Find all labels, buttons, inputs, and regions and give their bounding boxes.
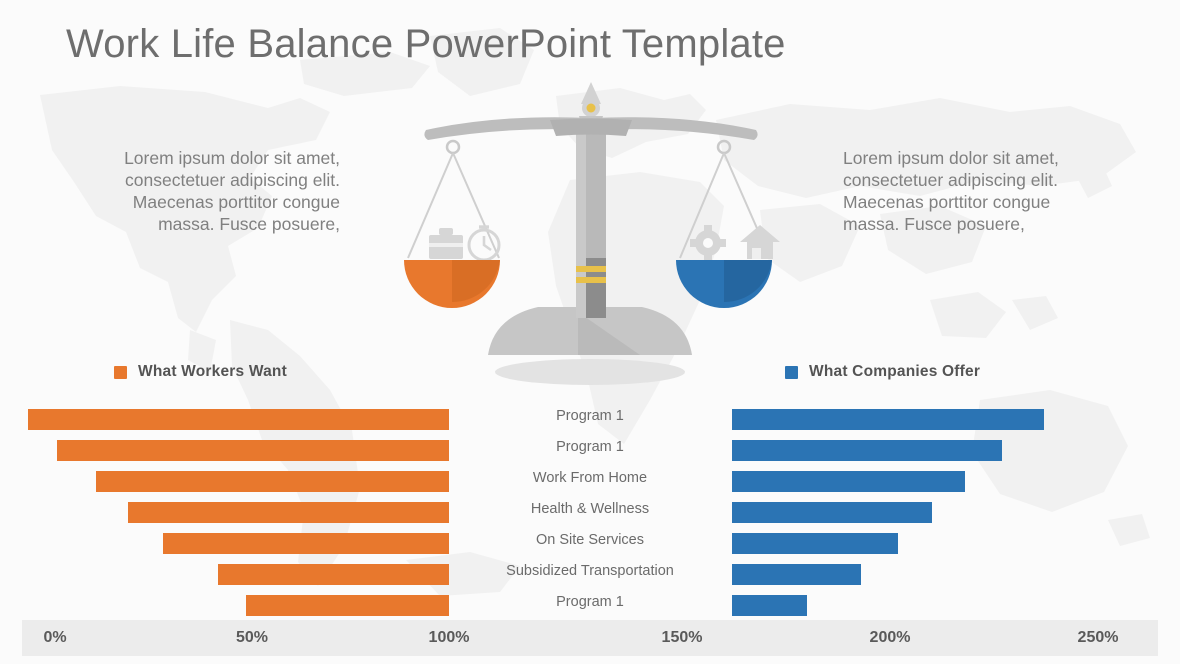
- axis-tick-label: 0%: [43, 629, 66, 647]
- scale-column-highlight: [576, 122, 586, 318]
- axis-tick-label: 50%: [236, 629, 268, 647]
- category-label: Subsidized Transportation: [460, 563, 720, 579]
- bar-what-workers-want[interactable]: [163, 533, 449, 554]
- scale-left-pivot: [447, 141, 459, 153]
- bar-row: Program 1: [0, 404, 1180, 435]
- scale-right-pivot: [718, 141, 730, 153]
- scale-gold-band-2: [576, 277, 606, 283]
- scale-beam-thick: [550, 119, 632, 137]
- briefcase-icon: [429, 228, 463, 259]
- legend-swatch-icon: [785, 366, 798, 379]
- bar-what-companies-offer[interactable]: [732, 595, 807, 616]
- bar-row: Program 1: [0, 435, 1180, 466]
- category-label: Program 1: [460, 439, 720, 455]
- category-label: Program 1: [460, 408, 720, 424]
- house-icon: [740, 225, 780, 259]
- axis-tick-label: 100%: [429, 629, 470, 647]
- x-axis-strip: 0%50%100%150%200%250%: [22, 620, 1158, 656]
- scale-finial-gem: [587, 104, 596, 113]
- legend-what-workers-want[interactable]: What Workers Want: [114, 363, 287, 381]
- page-title: Work Life Balance PowerPoint Template: [66, 22, 786, 67]
- tornado-bar-chart: Program 1Program 1Work From HomeHealth &…: [0, 396, 1180, 664]
- bar-row: Health & Wellness: [0, 497, 1180, 528]
- bar-what-workers-want[interactable]: [128, 502, 449, 523]
- bar-what-workers-want[interactable]: [96, 471, 449, 492]
- bar-what-companies-offer[interactable]: [732, 564, 861, 585]
- bar-row: Subsidized Transportation: [0, 559, 1180, 590]
- axis-tick-label: 150%: [662, 629, 703, 647]
- legend-label: What Companies Offer: [809, 363, 980, 381]
- scale-floor-shadow: [495, 359, 685, 385]
- bar-what-companies-offer[interactable]: [732, 409, 1044, 430]
- bar-what-companies-offer[interactable]: [732, 440, 1002, 461]
- description-right: Lorem ipsum dolor sit amet, consectetuer…: [843, 147, 1101, 235]
- legend-swatch-icon: [114, 366, 127, 379]
- bar-row: On Site Services: [0, 528, 1180, 559]
- bar-what-workers-want[interactable]: [57, 440, 449, 461]
- category-label: Program 1: [460, 594, 720, 610]
- balance-scale-illustration: [400, 80, 780, 392]
- category-label: Health & Wellness: [460, 501, 720, 517]
- axis-tick-label: 250%: [1078, 629, 1119, 647]
- bar-what-workers-want[interactable]: [246, 595, 449, 616]
- axis-tick-label: 200%: [870, 629, 911, 647]
- bar-row: Program 1: [0, 590, 1180, 621]
- category-label: On Site Services: [460, 532, 720, 548]
- bar-what-companies-offer[interactable]: [732, 502, 932, 523]
- stopwatch-icon: [469, 227, 499, 260]
- legend-what-companies-offer[interactable]: What Companies Offer: [785, 363, 980, 381]
- category-label: Work From Home: [460, 470, 720, 486]
- slide-canvas: Work Life Balance PowerPoint Template Lo…: [0, 0, 1180, 664]
- bar-what-workers-want[interactable]: [28, 409, 449, 430]
- bar-what-workers-want[interactable]: [218, 564, 449, 585]
- scale-gold-band-1: [576, 266, 606, 272]
- gear-icon: [690, 225, 726, 261]
- bar-what-companies-offer[interactable]: [732, 533, 898, 554]
- legend-label: What Workers Want: [138, 363, 287, 381]
- bar-what-companies-offer[interactable]: [732, 471, 965, 492]
- description-left: Lorem ipsum dolor sit amet, consectetuer…: [82, 147, 340, 235]
- bar-row: Work From Home: [0, 466, 1180, 497]
